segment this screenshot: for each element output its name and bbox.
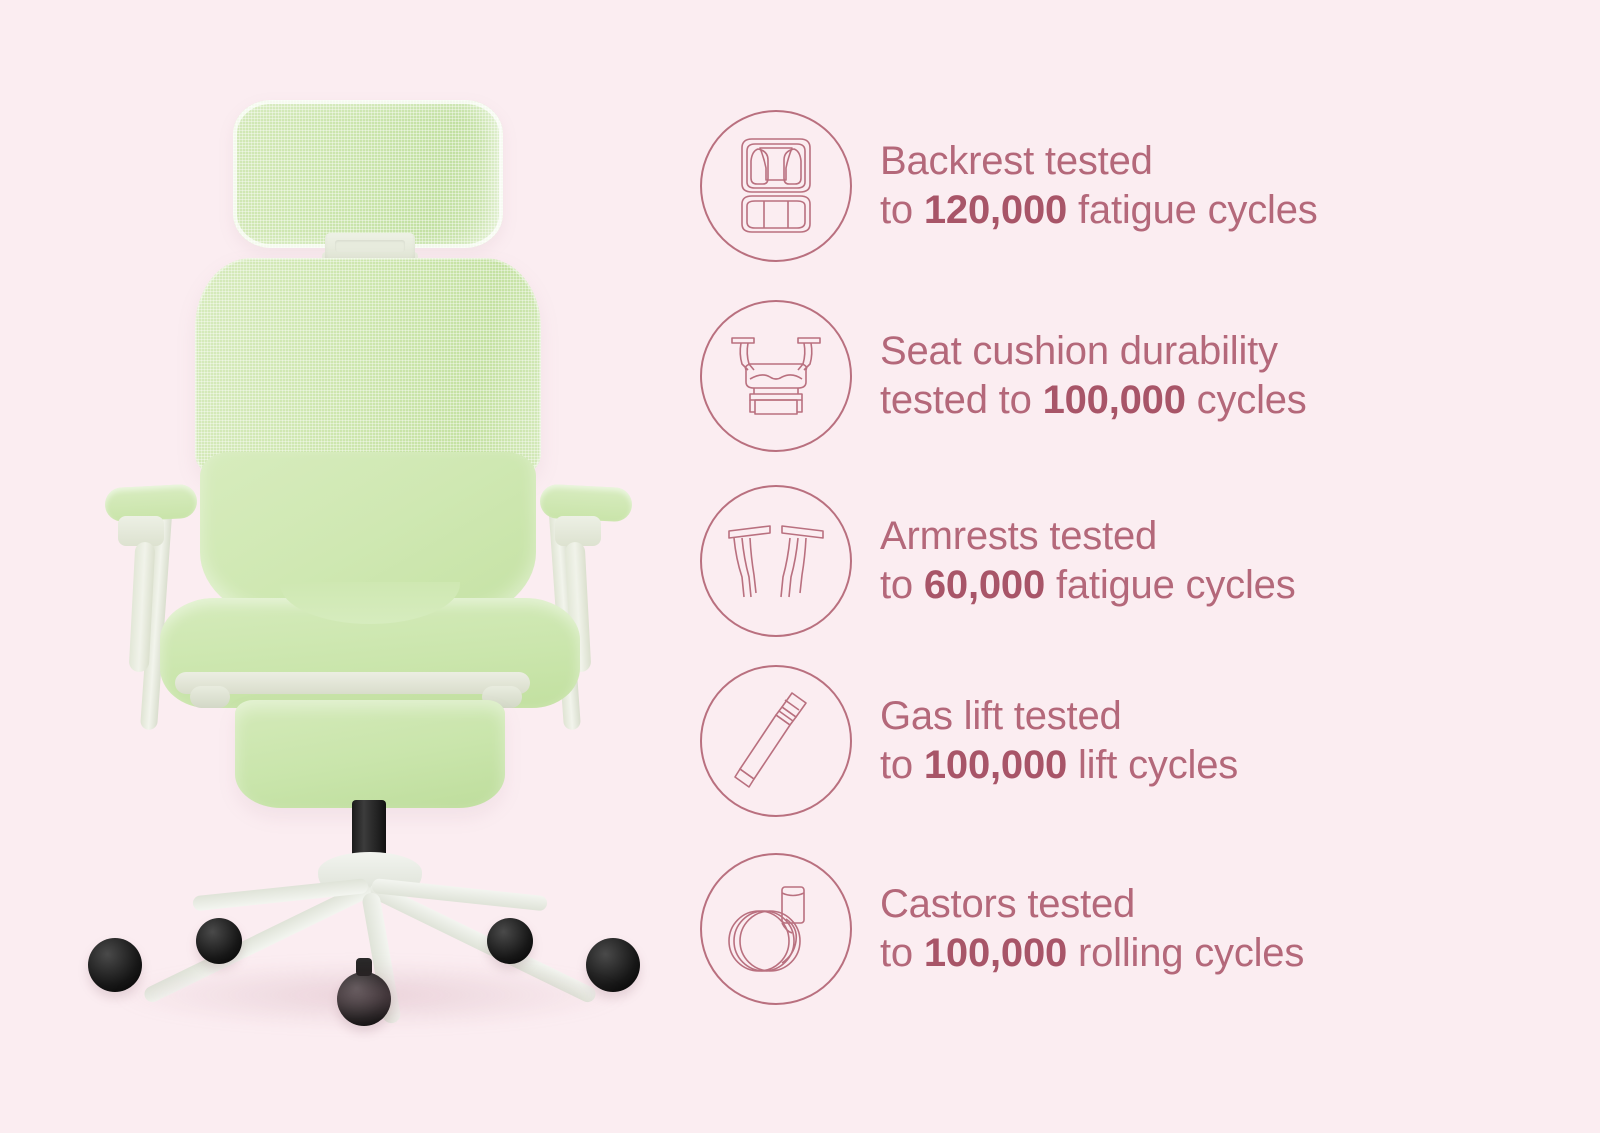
feature-row-gas-lift: Gas lift tested to 100,000 lift cycles: [700, 665, 1238, 817]
feature-line-1: Armrests tested: [880, 512, 1296, 561]
feature-text-backrest: Backrest tested to 120,000 fatigue cycle…: [880, 137, 1318, 235]
armrests-icon: [700, 485, 852, 637]
feature-text-seat-cushion: Seat cushion durability tested to 100,00…: [880, 327, 1307, 425]
castor-wheel-4: [487, 918, 533, 964]
chair-backrest-mesh: [195, 258, 541, 478]
feature-row-backrest: Backrest tested to 120,000 fatigue cycle…: [700, 110, 1318, 262]
feature-text-armrests: Armrests tested to 60,000 fatigue cycles: [880, 512, 1296, 610]
feature-line-1: Castors tested: [880, 880, 1304, 929]
office-chair-render: [0, 0, 700, 1133]
castors-icon: [700, 853, 852, 1005]
product-image-panel: [0, 0, 700, 1133]
tilt-knob-left: [190, 686, 230, 708]
feature-row-armrests: Armrests tested to 60,000 fatigue cycles: [700, 485, 1296, 637]
gas-lift-icon: [700, 665, 852, 817]
backrest-icon: [700, 110, 852, 262]
feature-line-2: tested to 100,000 cycles: [880, 376, 1307, 425]
feature-line-1: Backrest tested: [880, 137, 1318, 186]
feature-text-castors: Castors tested to 100,000 rolling cycles: [880, 880, 1304, 978]
chair-seat-cushion: [235, 700, 505, 808]
feature-line-1: Gas lift tested: [880, 692, 1238, 741]
floor-shadow: [110, 960, 630, 1030]
feature-list: Backrest tested to 120,000 fatigue cycle…: [700, 0, 1600, 1133]
feature-text-gas-lift: Gas lift tested to 100,000 lift cycles: [880, 692, 1238, 790]
chair-headrest: [233, 100, 503, 248]
feature-line-2: to 100,000 rolling cycles: [880, 929, 1304, 978]
seat-cushion-icon: [700, 300, 852, 452]
feature-line-1: Seat cushion durability: [880, 327, 1307, 376]
feature-line-2: to 120,000 fatigue cycles: [880, 186, 1318, 235]
feature-line-2: to 60,000 fatigue cycles: [880, 561, 1296, 610]
feature-line-2: to 100,000 lift cycles: [880, 741, 1238, 790]
feature-row-seat-cushion: Seat cushion durability tested to 100,00…: [700, 300, 1307, 452]
infographic-canvas: Backrest tested to 120,000 fatigue cycle…: [0, 0, 1600, 1133]
castor-wheel-2: [196, 918, 242, 964]
feature-row-castors: Castors tested to 100,000 rolling cycles: [700, 853, 1304, 1005]
